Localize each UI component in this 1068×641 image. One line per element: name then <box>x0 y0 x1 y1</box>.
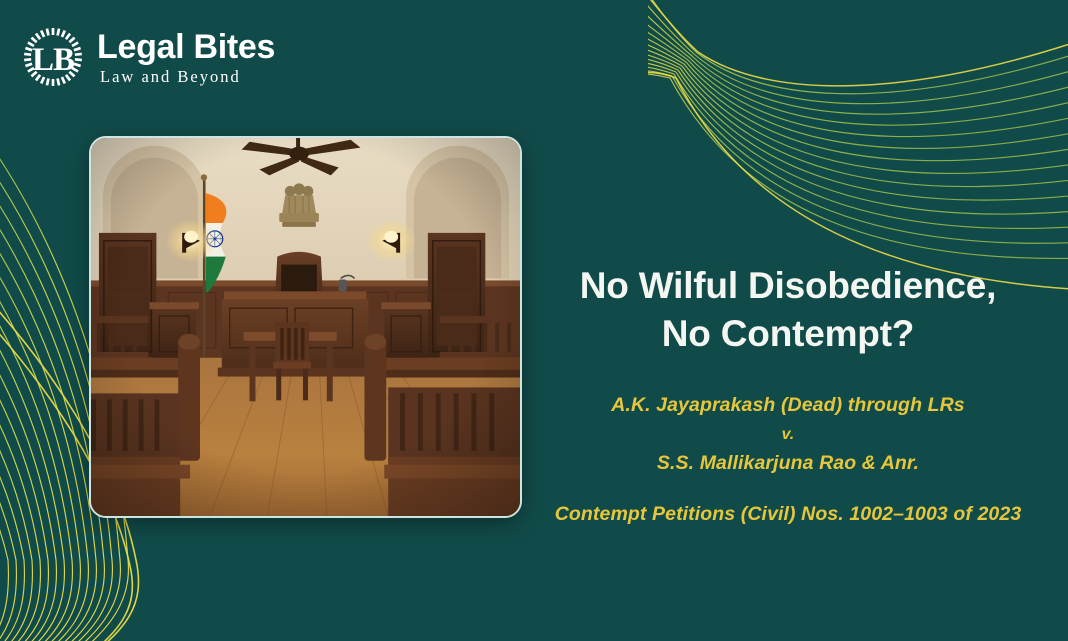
case-respondent: S.S. Mallikarjuna Rao & Anr. <box>528 448 1048 480</box>
page-title-line-2: No Contempt? <box>528 310 1048 358</box>
svg-text:LB: LB <box>32 42 75 78</box>
case-number: Contempt Petitions (Civil) Nos. 1002–100… <box>528 503 1048 526</box>
brand-name: Legal Bites <box>97 30 275 65</box>
courtroom-illustration <box>91 138 520 516</box>
page-title-line-1: No Wilful Disobedience, <box>580 265 997 306</box>
poster-canvas: LB Legal Bites Law and Beyond <box>0 0 1068 641</box>
case-versus: v. <box>528 422 1048 448</box>
brand-tagline: Law and Beyond <box>100 69 275 86</box>
case-petitioner: A.K. Jayaprakash (Dead) through LRs <box>528 390 1048 422</box>
content-block: No Wilful Disobedience, No Contempt? A.K… <box>528 262 1048 526</box>
case-citation-block: A.K. Jayaprakash (Dead) through LRs v. S… <box>528 390 1048 479</box>
courtroom-photo <box>89 136 522 518</box>
lb-monogram-icon: LB <box>22 26 84 88</box>
page-title: No Wilful Disobedience, No Contempt? <box>528 262 1048 358</box>
brand-logo[interactable]: LB Legal Bites Law and Beyond <box>22 26 275 88</box>
